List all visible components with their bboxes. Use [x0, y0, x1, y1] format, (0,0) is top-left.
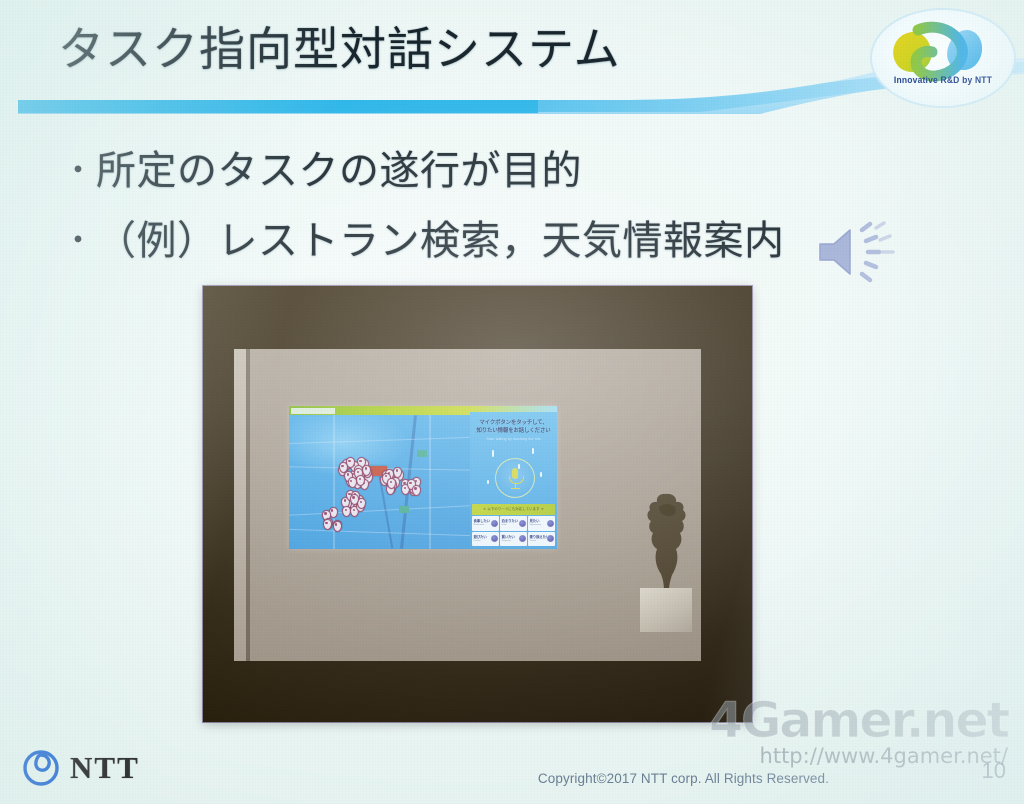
quick-button-label: 泊まりたい: [502, 519, 518, 523]
quick-button-sublabel: Leisure: [474, 540, 481, 543]
voice-panel-top-accent: [470, 406, 557, 412]
map-header-label: [291, 408, 335, 414]
shopping-icon: [519, 535, 526, 542]
map-pin[interactable]: [333, 521, 342, 532]
digital-signage-screen[interactable]: マイクボタンをタッチして、知りたい情報をお話しください Start talkin…: [289, 406, 557, 549]
photo-wall-left-strip: [234, 349, 246, 661]
mic-icon-base: [511, 488, 520, 489]
mic-icon-arc: [509, 476, 524, 484]
quick-button-label: 買いたい: [502, 535, 515, 539]
copyright-notice: Copyright©2017 NTT corp. All Rights Rese…: [538, 771, 829, 786]
voice-panel[interactable]: マイクボタンをタッチして、知りたい情報をお話しください Start talkin…: [470, 406, 557, 549]
quick-button[interactable]: 見たいSightseeing: [528, 516, 555, 531]
watermark-logo: 4Gamer.net: [709, 698, 1008, 744]
quick-button[interactable]: 乗り換えたいTransit: [528, 532, 555, 547]
quick-button[interactable]: 買いたいShopping: [500, 532, 527, 547]
quick-button-sublabel: Hotel: [502, 524, 507, 527]
quick-button-sublabel: Restaurant: [474, 524, 485, 527]
bullet-text: 所定のタスクの遂行が目的: [96, 140, 582, 202]
map-pin[interactable]: [323, 519, 332, 530]
map-pin[interactable]: [412, 485, 421, 496]
quick-button[interactable]: 食事したいRestaurant: [472, 516, 499, 531]
map-panel[interactable]: [289, 406, 470, 549]
ntt-footer-logo: NTT: [22, 749, 140, 787]
bullet-item-2: ・ （例）レストラン検索，天気情報案内: [62, 210, 785, 280]
photo-wall-edge: [246, 349, 250, 661]
speaker-sound-icon[interactable]: [810, 218, 906, 286]
bullet-item-1: ・ 所定のタスクの遂行が目的: [62, 140, 785, 210]
hotel-icon: [519, 520, 526, 527]
leisure-icon: [491, 535, 498, 542]
sightseeing-icon: [547, 520, 554, 527]
quick-button-label: 遊びたい: [474, 535, 487, 539]
quick-button-label: 見たい: [530, 519, 540, 523]
quick-buttons-header: ＊ 以下のワードにも対応しています ＊: [472, 504, 555, 515]
bullet-marker: ・: [62, 210, 96, 270]
presentation-slide: タスク指向型対話システム: [0, 0, 1024, 804]
restaurant-icon: [491, 520, 498, 527]
voice-prompt-subtext: Start talking by touching the mic: [474, 437, 553, 442]
page-title: タスク指向型対話システム: [58, 18, 621, 80]
quick-button-sublabel: Transit: [530, 540, 537, 543]
quick-button-sublabel: Shopping: [502, 540, 511, 543]
watermark-url: http://www.4gamer.net/: [709, 744, 1008, 768]
signage-photo: マイクボタンをタッチして、知りたい情報をお話しください Start talkin…: [203, 286, 752, 722]
bullet-marker: ・: [62, 140, 96, 200]
quick-button-sublabel: Sightseeing: [530, 524, 541, 527]
slide-page-number: 10: [982, 758, 1006, 784]
ntt-wordmark: NTT: [70, 750, 140, 786]
quick-button-label: 食事したい: [474, 519, 490, 523]
ntt-dynamic-loop-icon: [22, 749, 60, 787]
map-station-marker: [399, 506, 409, 513]
logo-tagline: Innovative R&D by NTT: [872, 75, 1014, 86]
map-pin[interactable]: [348, 477, 357, 488]
quick-button[interactable]: 遊びたいLeisure: [472, 532, 499, 547]
ntt-rd-loop-mark-icon: [872, 10, 1014, 106]
map-pin[interactable]: [350, 494, 359, 505]
ntt-rd-logo-badge: Innovative R&D by NTT: [872, 10, 1014, 106]
statue-silhouette: [639, 491, 695, 591]
watermark: 4Gamer.net http://www.4gamer.net/: [709, 698, 1008, 768]
transit-icon: [547, 535, 554, 542]
quick-button[interactable]: 泊まりたいHotel: [500, 516, 527, 531]
quick-buttons-grid[interactable]: 食事したいRestaurant泊まりたいHotel見たいSightseeing遊…: [472, 516, 555, 546]
voice-prompt-text: マイクボタンをタッチして、知りたい情報をお話しください: [474, 419, 553, 435]
mic-button[interactable]: [495, 458, 535, 498]
map-station-marker: [417, 450, 427, 457]
statue-pedestal: [640, 588, 692, 632]
bullet-list: ・ 所定のタスクの遂行が目的 ・ （例）レストラン検索，天気情報案内: [62, 140, 785, 280]
bullet-text: （例）レストラン検索，天気情報案内: [96, 210, 785, 272]
